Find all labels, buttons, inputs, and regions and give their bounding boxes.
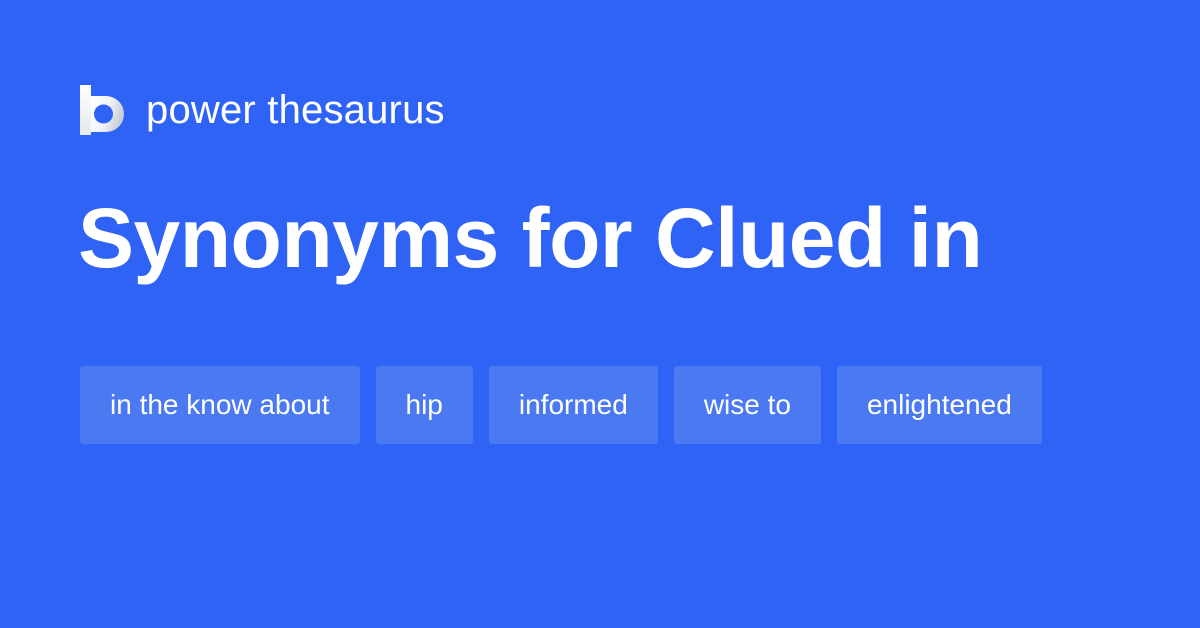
brand-name: power thesaurus: [146, 90, 445, 130]
page-title: Synonyms for Clued in: [78, 196, 1118, 282]
synonym-tag[interactable]: informed: [489, 366, 658, 444]
power-thesaurus-b-logo-icon: [80, 85, 124, 135]
synonym-tag[interactable]: enlightened: [837, 366, 1042, 444]
synonym-tag[interactable]: in the know about: [80, 366, 360, 444]
synonym-tag[interactable]: hip: [376, 366, 473, 444]
synonym-tag[interactable]: wise to: [674, 366, 821, 444]
synonym-tag-list: in the know about hip informed wise to e…: [80, 366, 1120, 444]
brand-header[interactable]: power thesaurus: [80, 84, 445, 136]
synonyms-share-card: power thesaurus Synonyms for Clued in in…: [0, 0, 1200, 628]
